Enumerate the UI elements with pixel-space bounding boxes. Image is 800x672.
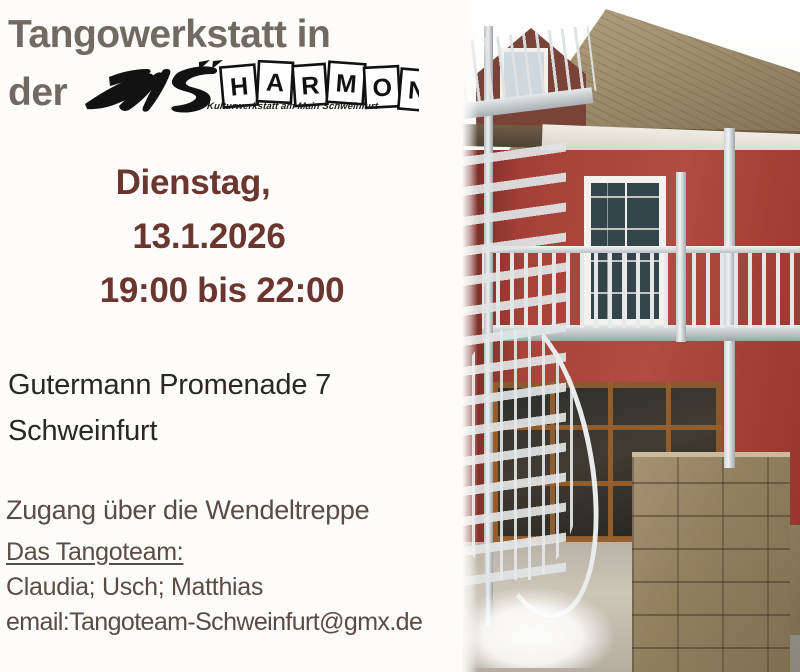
address-city: Schweinfurt [8, 409, 458, 455]
headline-line-1: Tangowerkstatt in [8, 10, 458, 60]
building-photo [462, 0, 800, 672]
headline-der: der [8, 68, 67, 118]
access-note: Zugang über die Wendeltreppe [6, 497, 466, 524]
svg-text:R: R [301, 71, 321, 100]
svg-text:H: H [229, 72, 249, 101]
event-date: 13.1.2026 [0, 210, 448, 264]
headline-line-2: der [8, 60, 458, 118]
venue-address: Gutermann Promenade 7 Schweinfurt [8, 363, 458, 455]
event-time: 19:00 bis 22:00 [0, 264, 448, 318]
photo-balcony-post [676, 172, 686, 342]
team-label-wrap: Das Tangoteam: [6, 538, 466, 565]
access-and-contact: Zugang über die Wendeltreppe Das Tangote… [6, 497, 466, 635]
team-names: Claudia; Usch; Matthias [6, 575, 466, 600]
photo-stone-texture [632, 457, 790, 672]
contact-email: email:Tangoteam-Schweinfurt@gmx.de [6, 610, 466, 635]
svg-text:N: N [407, 76, 419, 105]
event-datetime: Dienstag, 13.1.2026 19:00 bis 22:00 [0, 156, 448, 318]
svg-text:O: O [372, 73, 392, 102]
photo-snow-patch [464, 588, 614, 668]
logo-subtitle: Kulturwerkstatt am Main Schweinfurt [207, 101, 379, 113]
svg-text:M: M [335, 69, 357, 98]
address-street: Gutermann Promenade 7 [8, 363, 458, 409]
team-label: Das Tangoteam: [6, 540, 183, 565]
svg-text:A: A [266, 68, 285, 97]
poster-headline: Tangowerkstatt in der [8, 10, 458, 118]
poster-canvas: Tangowerkstatt in der [0, 0, 800, 672]
disharmonie-logo: H A R M [79, 60, 419, 118]
event-weekday: Dienstag, [0, 156, 448, 210]
